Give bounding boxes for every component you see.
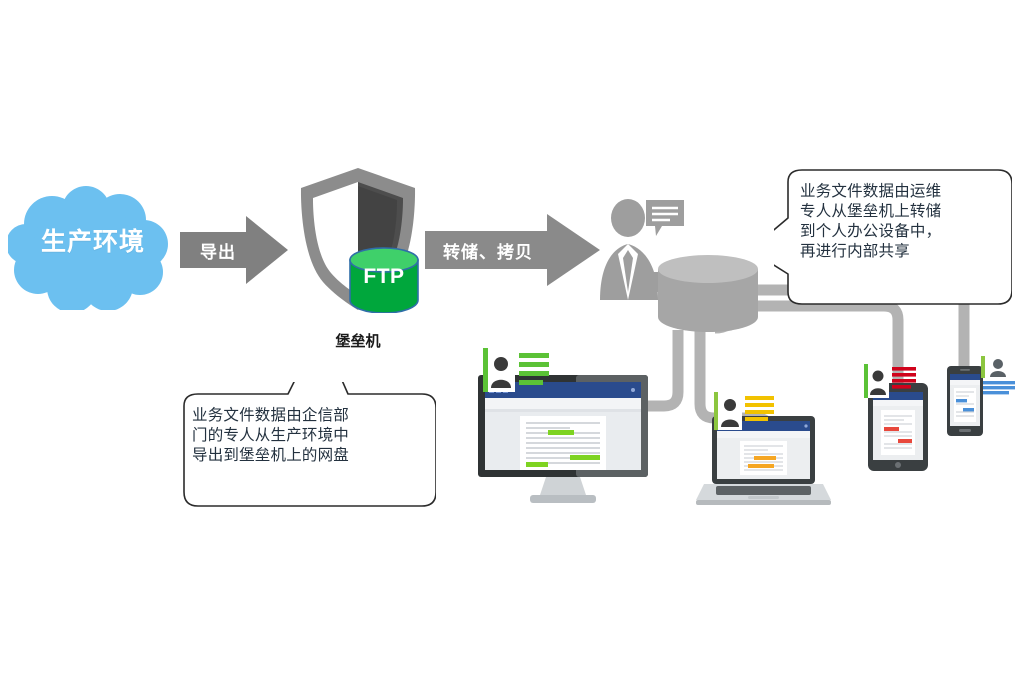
callout-left-text: 业务文件数据由企信部 门的专人从生产环境中 导出到堡垒机上的网盘 xyxy=(192,406,416,466)
contact-card-icon xyxy=(864,364,916,398)
laptop-contact-card xyxy=(714,392,774,430)
hub-cylinder-shape xyxy=(657,255,759,333)
desktop-monitor xyxy=(478,375,648,507)
smartphone xyxy=(947,366,983,436)
arrow-export-shape xyxy=(180,216,288,284)
phone-shape xyxy=(947,366,983,436)
desktop-monitor-shape xyxy=(478,375,648,507)
callout-right-text: 业务文件数据由运维 专人从堡垒机上转储 到个人办公设备中， 再进行内部共享 xyxy=(800,182,1000,263)
tablet-contact-card xyxy=(864,364,916,398)
ftp-storage: FTP xyxy=(348,247,420,313)
contact-card-icon xyxy=(714,392,774,430)
hub-storage xyxy=(657,255,759,333)
diagram-canvas: 生产环境 导出 FTP 堡垒机 转储、拷贝 xyxy=(0,0,1015,675)
phone-contact-card xyxy=(981,356,1015,398)
desktop-contact-card xyxy=(483,348,549,392)
bastion-caption: 堡垒机 xyxy=(283,330,433,351)
callout-share-description: 业务文件数据由运维 专人从堡垒机上转储 到个人办公设备中， 再进行内部共享 xyxy=(774,166,1012,306)
callout-export-description: 业务文件数据由企信部 门的专人从生产环境中 导出到堡垒机上的网盘 xyxy=(170,382,436,507)
cloud-label: 生产环境 xyxy=(8,230,178,255)
contact-card-icon xyxy=(981,356,1015,398)
ftp-label: FTP xyxy=(348,265,420,289)
arrow-transfer-shape xyxy=(425,214,600,286)
distribution-pipes xyxy=(0,0,1015,675)
cloud-node: 生产环境 xyxy=(8,186,178,310)
arrow-transfer-copy: 转储、拷贝 xyxy=(425,214,600,286)
contact-card-icon xyxy=(483,348,549,392)
arrow-export: 导出 xyxy=(180,216,288,284)
